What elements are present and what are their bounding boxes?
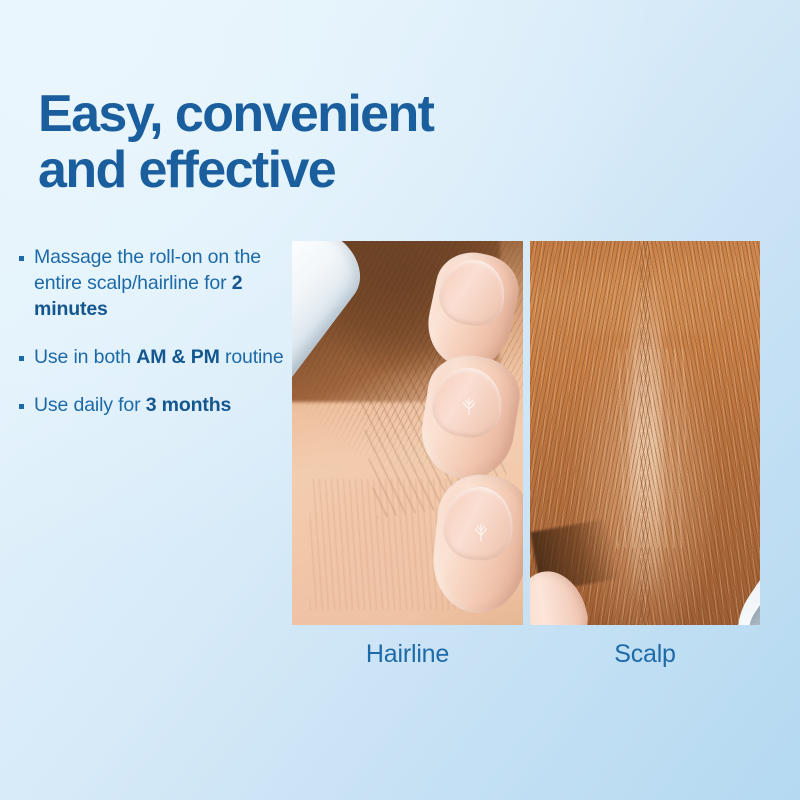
instruction-text-massage: Massage the roll-on on the entire scalp/…	[34, 245, 291, 323]
nail-art-leaf-icon	[458, 395, 480, 417]
caption-hairline: Hairline	[292, 640, 523, 669]
bullet-square-icon	[19, 256, 24, 261]
bullet-square-icon	[19, 356, 24, 361]
promo-slide: Easy, convenient and effective Massage t…	[0, 0, 800, 800]
bullet-square-icon	[19, 404, 24, 409]
instruction-list: Massage the roll-on on the entire scalp/…	[19, 245, 291, 419]
list-item: Use daily for 3 months	[19, 393, 291, 419]
caption-scalp: Scalp	[530, 640, 760, 669]
photo-panel-hairline: vise™	[292, 241, 523, 625]
instruction-text-routine: Use in both AM & PM routine	[34, 345, 291, 371]
nail-art-leaf-icon	[470, 521, 492, 543]
scalp-photo	[530, 241, 760, 625]
instruction-text-duration: Use daily for 3 months	[34, 393, 291, 419]
list-item: Use in both AM & PM routine	[19, 345, 291, 371]
list-item: Massage the roll-on on the entire scalp/…	[19, 245, 291, 323]
photo-panel-scalp	[530, 241, 760, 625]
hairline-photo: vise™	[292, 241, 523, 625]
page-title: Easy, convenient and effective	[38, 87, 558, 198]
flyaway-hairs	[617, 349, 686, 549]
